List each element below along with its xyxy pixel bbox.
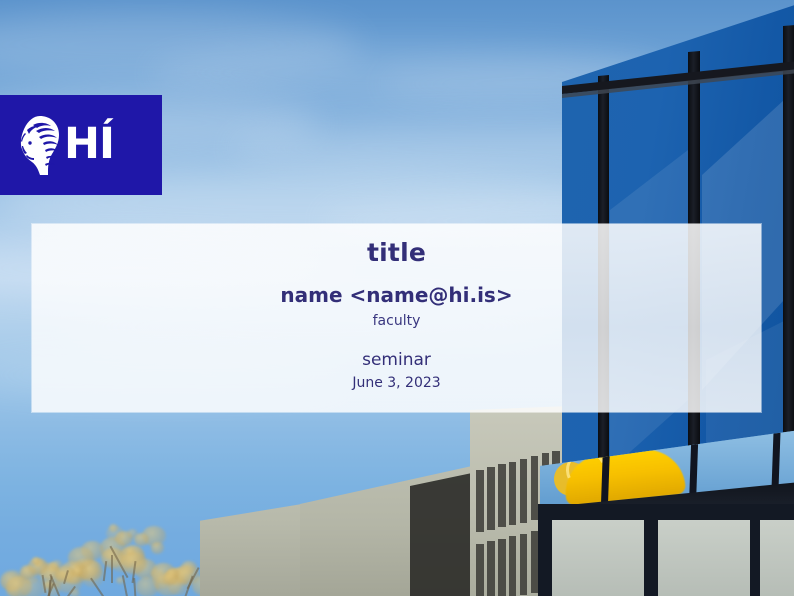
athena-head-icon — [10, 113, 62, 177]
presenter-name: name <name@hi.is> — [32, 284, 761, 306]
event-date: June 3, 2023 — [32, 376, 761, 391]
title-slide: HÍ title name <name@hi.is> faculty semin… — [0, 0, 794, 596]
wall-panel — [760, 520, 794, 596]
event-label: seminar — [32, 351, 761, 370]
hi-wordmark: HÍ — [64, 123, 114, 166]
page-title: title — [32, 239, 761, 267]
wall-panel — [658, 520, 750, 596]
title-overlay-panel: title name <name@hi.is> faculty seminar … — [32, 224, 761, 412]
affiliation-label: faculty — [32, 314, 761, 329]
wall-panel — [552, 520, 644, 596]
hi-logo: HÍ — [0, 95, 162, 195]
